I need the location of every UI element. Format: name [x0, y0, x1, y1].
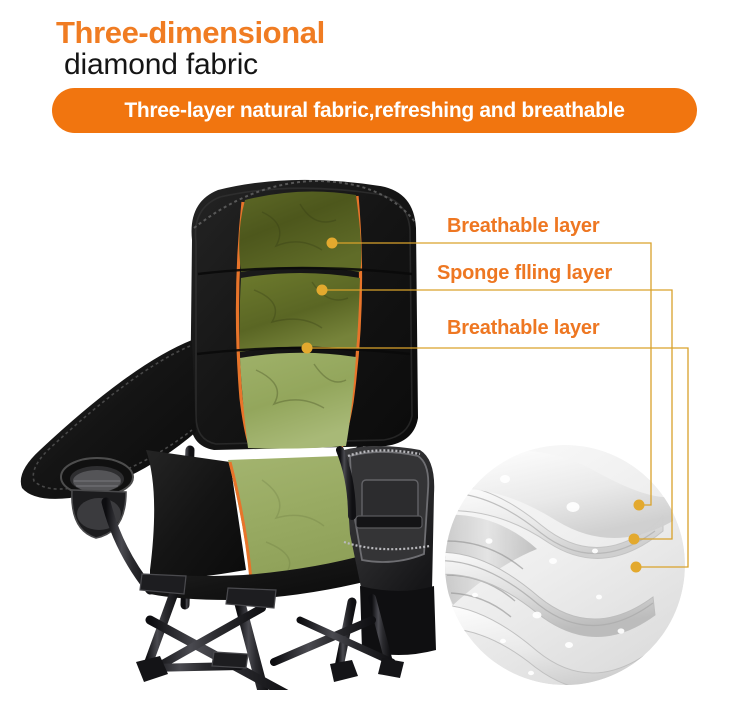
callout-label-3: Breathable layer [447, 317, 599, 340]
callout-label-2: Sponge flling layer [437, 262, 612, 285]
callout-dots [302, 238, 645, 573]
chair-dot-1 [327, 238, 338, 249]
inset-dot-3 [631, 562, 642, 573]
callout-label-1: Breathable layer [447, 215, 599, 238]
inset-dot-1 [634, 500, 645, 511]
inset-dot-2 [629, 534, 640, 545]
chair-dot-2 [317, 285, 328, 296]
infographic-root: Three-dimensional diamond fabric Three-l… [0, 0, 750, 714]
callout-connectors [0, 0, 750, 714]
connector-line-3 [307, 348, 688, 567]
chair-dot-3 [302, 343, 313, 354]
